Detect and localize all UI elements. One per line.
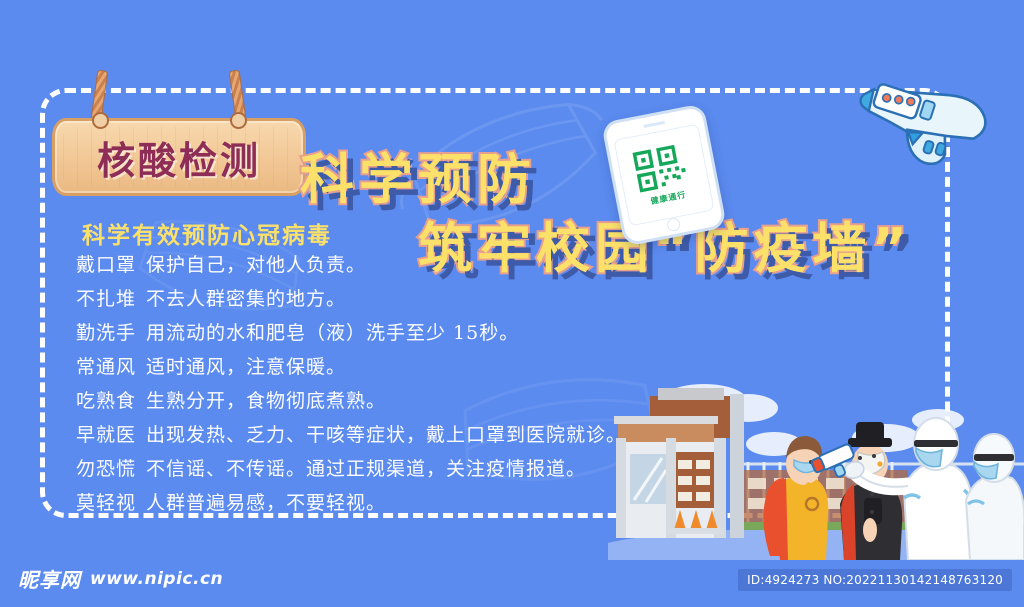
infrared-thermometer-gun-icon <box>848 76 996 168</box>
image-id-tag: ID:4924273 NO:20221130142148763120 <box>738 569 1012 591</box>
phone-home-button-icon <box>666 217 681 232</box>
tip-item: 吃熟食生熟分开，食物彻底煮熟。 <box>76 392 636 411</box>
tip-text: 人群普遍易感，不要轻视。 <box>146 492 386 514</box>
tip-key: 戴口罩 <box>76 254 136 276</box>
tip-text: 用流动的水和肥皂（液）洗手至少 15秒。 <box>146 322 519 344</box>
tip-key: 勿恐慌 <box>76 458 136 480</box>
person-worker-back <box>966 434 1024 560</box>
site-logo: 昵享网 www.nipic.cn <box>18 564 223 593</box>
site-logo-url: www.nipic.cn <box>90 569 223 589</box>
tip-item: 勿恐慌不信谣、不传谣。通过正规渠道，关注疫情报道。 <box>76 460 636 479</box>
tip-key: 吃熟食 <box>76 390 136 412</box>
tip-text: 生熟分开，食物彻底煮熟。 <box>146 390 386 412</box>
site-logo-mark: 昵享网 <box>18 564 81 593</box>
tip-text: 适时通风，注意保暖。 <box>146 356 346 378</box>
ring-right-icon <box>230 112 247 129</box>
tip-item: 不扎堆不去人群密集的地方。 <box>76 290 636 309</box>
hanging-wooden-sign: 核酸检测 <box>52 70 302 195</box>
tip-item: 常通风适时通风，注意保暖。 <box>76 358 636 377</box>
tip-item: 早就医出现发热、乏力、干咳等症状，戴上口罩到医院就诊。 <box>76 426 636 445</box>
tip-key: 莫轻视 <box>76 492 136 514</box>
tip-text: 不信谣、不传谣。通过正规渠道，关注疫情报道。 <box>146 458 586 480</box>
sign-board: 核酸检测 <box>52 118 306 196</box>
phone-screen: 健康通行 <box>613 124 714 227</box>
tip-item: 戴口罩保护自己，对他人负责。 <box>76 256 636 275</box>
poster-canvas: 核酸检测 科学预防 筑牢校园“防疫墙” 科学有效预防心冠病毒 戴口罩保护自己，对… <box>0 0 1024 607</box>
school-gate-temperature-check-illustration <box>608 378 1024 560</box>
tip-item: 勤洗手用流动的水和肥皂（液）洗手至少 15秒。 <box>76 324 636 343</box>
subtitle-text: 科学有效预防心冠病毒 <box>82 216 332 250</box>
sign-label: 核酸检测 <box>97 130 261 185</box>
tip-key: 常通风 <box>76 356 136 378</box>
phone-speaker-icon <box>643 121 665 128</box>
qr-code-icon <box>632 142 693 194</box>
tip-text: 保护自己，对他人负责。 <box>146 254 366 276</box>
ring-left-icon <box>92 112 109 129</box>
tip-key: 勤洗手 <box>76 322 136 344</box>
tip-item: 莫轻视人群普遍易感，不要轻视。 <box>76 494 636 513</box>
tip-text: 不去人群密集的地方。 <box>146 288 346 310</box>
tip-key: 不扎堆 <box>76 288 136 310</box>
qr-label: 健康通行 <box>650 189 687 207</box>
tip-key: 早就医 <box>76 424 136 446</box>
tip-text: 出现发热、乏力、干咳等症状，戴上口罩到医院就诊。 <box>146 424 626 446</box>
tips-list: 戴口罩保护自己，对他人负责。 不扎堆不去人群密集的地方。 勤洗手用流动的水和肥皂… <box>76 256 636 528</box>
